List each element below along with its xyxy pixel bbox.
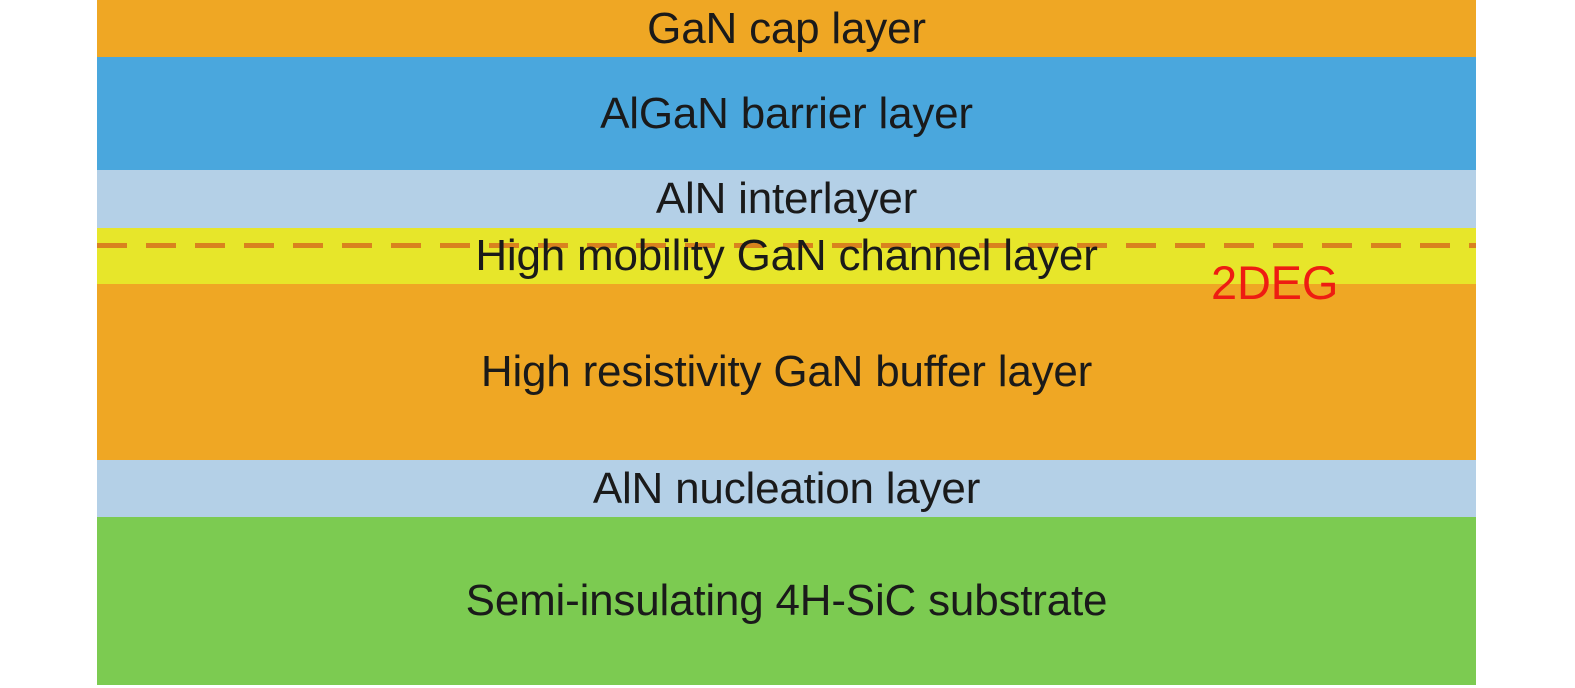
2deg-annotation-label: 2DEG [1211, 259, 1338, 306]
layer-aln-interlayer-label: AlN interlayer [656, 177, 917, 221]
layer-gan-cap: GaN cap layer [97, 0, 1476, 57]
layer-aln-nucleation: AlN nucleation layer [97, 460, 1476, 517]
layer-gan-buffer-label: High resistivity GaN buffer layer [481, 350, 1092, 394]
gan-hemt-stack-diagram: GaN cap layer AlGaN barrier layer AlN in… [0, 0, 1575, 688]
layer-algan-barrier-label: AlGaN barrier layer [600, 92, 973, 136]
layer-gan-buffer: High resistivity GaN buffer layer [97, 284, 1476, 460]
layer-gan-channel-label: High mobility GaN channel layer [475, 234, 1097, 278]
layer-gan-cap-label: GaN cap layer [647, 7, 926, 51]
layer-aln-nucleation-label: AlN nucleation layer [593, 467, 980, 511]
layer-algan-barrier: AlGaN barrier layer [97, 57, 1476, 170]
layer-sic-substrate-label: Semi-insulating 4H-SiC substrate [466, 579, 1108, 623]
layer-sic-substrate: Semi-insulating 4H-SiC substrate [97, 517, 1476, 685]
layer-aln-interlayer: AlN interlayer [97, 170, 1476, 228]
